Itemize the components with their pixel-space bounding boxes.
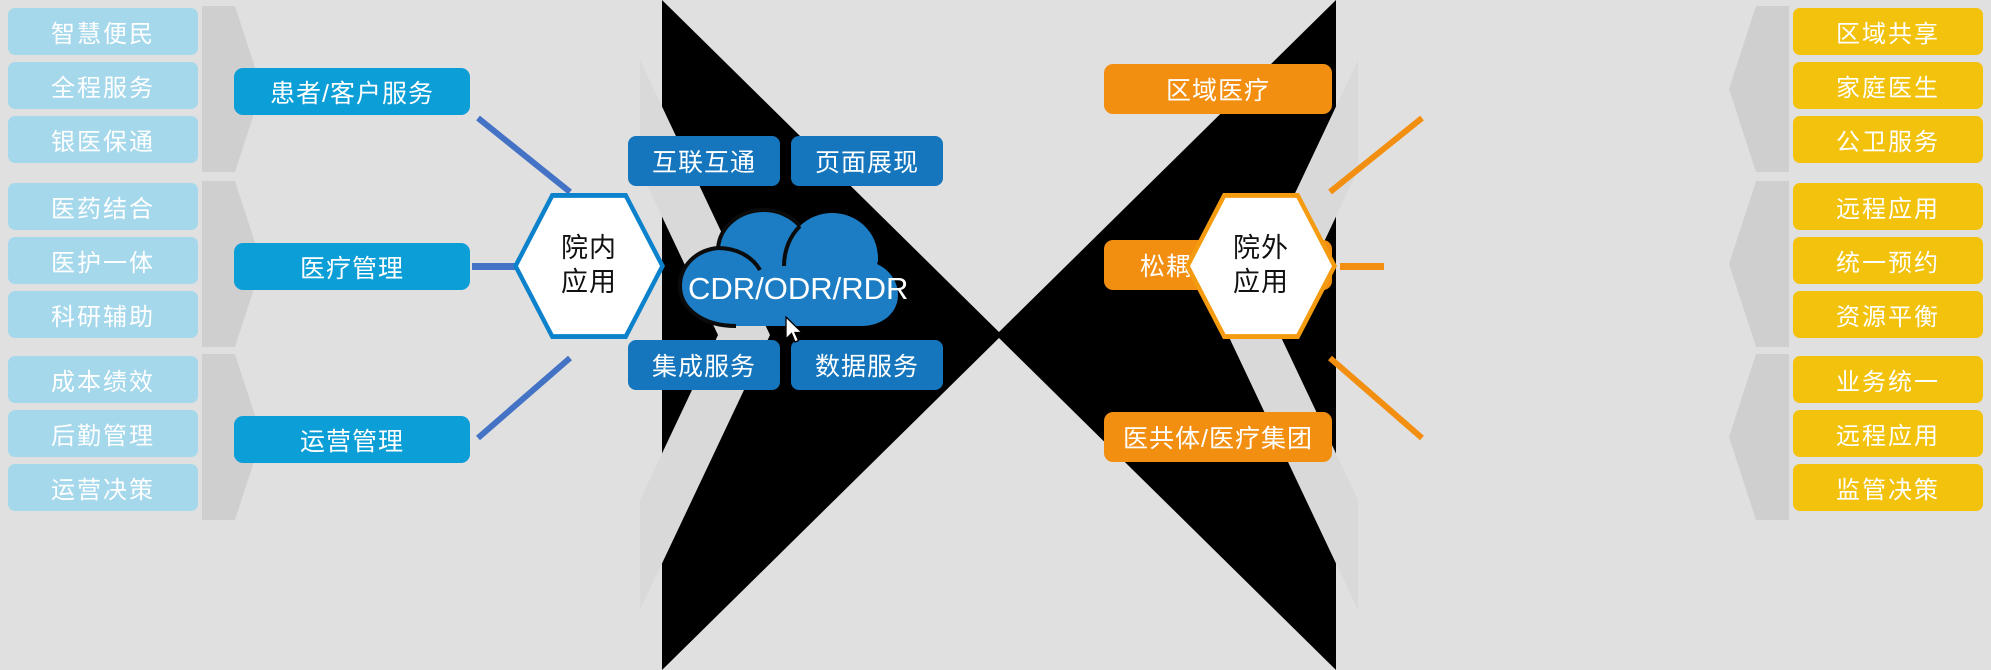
- list-item[interactable]: 智慧便民: [8, 8, 198, 55]
- hexagon-label: 院外 应用: [1233, 232, 1289, 300]
- black-center-left-wedge: [662, 0, 1002, 670]
- right-feature-group-1: 区域共享 家庭医生 公卫服务: [1793, 8, 1983, 170]
- left-feature-group-3: 成本绩效 后勤管理 运营决策: [8, 356, 198, 518]
- list-item[interactable]: 统一预约: [1793, 237, 1983, 284]
- cloud-label: CDR/ODR/RDR: [688, 273, 888, 304]
- list-item[interactable]: 远程应用: [1793, 183, 1983, 230]
- left-feature-column: 智慧便民 全程服务 银医保通 医药结合 医护一体 科研辅助 成本绩效 后勤管理 …: [8, 0, 198, 670]
- hexagon-outpatient-apps[interactable]: 院外 应用: [1185, 190, 1337, 342]
- category-regional-healthcare[interactable]: 区域医疗: [1104, 64, 1332, 114]
- right-feature-column: 区域共享 家庭医生 公卫服务 远程应用 统一预约 资源平衡 业务统一 远程应用 …: [1793, 0, 1983, 670]
- arrow-left-icon: [1729, 6, 1789, 172]
- hexagon-label-line1: 院外: [1233, 232, 1289, 266]
- right-feature-group-2: 远程应用 统一预约 资源平衡: [1793, 183, 1983, 345]
- list-item[interactable]: 医护一体: [8, 237, 198, 284]
- arrow-left-icon: [1729, 181, 1789, 347]
- right-feature-group-3: 业务统一 远程应用 监管决策: [1793, 356, 1983, 518]
- hexagon-inpatient-apps[interactable]: 院内 应用: [513, 190, 665, 342]
- list-item[interactable]: 全程服务: [8, 62, 198, 109]
- list-item[interactable]: 家庭医生: [1793, 62, 1983, 109]
- mouse-cursor: [784, 316, 804, 351]
- left-feature-group-2: 医药结合 医护一体 科研辅助: [8, 183, 198, 345]
- list-item[interactable]: 远程应用: [1793, 410, 1983, 457]
- category-patient-service[interactable]: 患者/客户服务: [234, 68, 470, 115]
- category-medical-group[interactable]: 医共体/医疗集团: [1104, 412, 1332, 462]
- hexagon-label-line2: 应用: [561, 266, 617, 300]
- list-item[interactable]: 公卫服务: [1793, 116, 1983, 163]
- list-item[interactable]: 区域共享: [1793, 8, 1983, 55]
- connector-line-bottom-right: [1320, 350, 1430, 445]
- center-box-page-display[interactable]: 页面展现: [791, 136, 943, 186]
- list-item[interactable]: 医药结合: [8, 183, 198, 230]
- center-box-integration-service[interactable]: 集成服务: [628, 340, 780, 390]
- diagram-canvas: 智慧便民 全程服务 银医保通 医药结合 医护一体 科研辅助 成本绩效 后勤管理 …: [0, 0, 1991, 670]
- connector-line-top-left: [470, 110, 580, 200]
- connector-line-middle-left: [472, 263, 516, 270]
- list-item[interactable]: 监管决策: [1793, 464, 1983, 511]
- hexagon-label: 院内 应用: [561, 232, 617, 300]
- arrow-left-icon: [1729, 354, 1789, 520]
- list-item[interactable]: 运营决策: [8, 464, 198, 511]
- category-medical-management[interactable]: 医疗管理: [234, 243, 470, 290]
- list-item[interactable]: 后勤管理: [8, 410, 198, 457]
- cloud-icon: [674, 196, 902, 333]
- list-item[interactable]: 银医保通: [8, 116, 198, 163]
- list-item[interactable]: 业务统一: [1793, 356, 1983, 403]
- center-box-data-service[interactable]: 数据服务: [791, 340, 943, 390]
- category-operation-management[interactable]: 运营管理: [234, 416, 470, 463]
- connector-line-middle-right: [1340, 263, 1384, 270]
- center-box-interconnect[interactable]: 互联互通: [628, 136, 780, 186]
- left-feature-group-1: 智慧便民 全程服务 银医保通: [8, 8, 198, 170]
- list-item[interactable]: 科研辅助: [8, 291, 198, 338]
- connector-line-top-right: [1320, 110, 1430, 200]
- hexagon-label-line2: 应用: [1233, 266, 1289, 300]
- list-item[interactable]: 成本绩效: [8, 356, 198, 403]
- hexagon-label-line1: 院内: [561, 232, 617, 266]
- connector-line-bottom-left: [470, 350, 580, 445]
- list-item[interactable]: 资源平衡: [1793, 291, 1983, 338]
